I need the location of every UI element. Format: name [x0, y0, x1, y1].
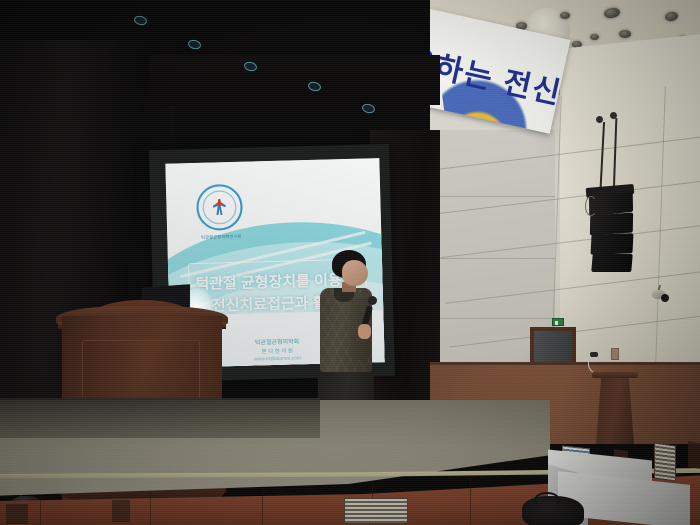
- security-camera-lens-icon: [661, 294, 669, 302]
- exit-sign-icon: [552, 318, 564, 326]
- stage-vent-grille: [654, 442, 676, 481]
- apron-access-panel: [112, 500, 130, 522]
- apron-access-panel: [6, 504, 28, 524]
- side-pedestal-top: [592, 372, 638, 378]
- wall-outlet-icon: [611, 348, 619, 360]
- stage-floor-shadow: [0, 398, 320, 438]
- presenter-hand: [358, 324, 371, 339]
- apron-access-panel: [688, 441, 700, 469]
- ceiling-downlight: [619, 30, 631, 38]
- wainscot-trim: [430, 362, 700, 365]
- apron-seam: [40, 496, 41, 525]
- line-array-module: [590, 233, 633, 255]
- stage-curtain-valance: [150, 55, 440, 105]
- speaker-ceiling-mount: [610, 112, 617, 119]
- floor-bag-strap: [534, 492, 560, 508]
- side-pedestal-table: [596, 376, 634, 444]
- line-array-module: [591, 254, 633, 272]
- ceiling-downlight: [560, 12, 570, 19]
- auditorium-photo: 2015년 1월 18일 12시~18시 CHA의과학대학교 통합의학대학원, …: [0, 0, 700, 525]
- handheld-microphone-head-icon: [368, 296, 377, 305]
- speaker-ceiling-mount: [596, 116, 603, 123]
- presenter-face: [342, 260, 368, 286]
- ceiling-downlight: [590, 34, 599, 40]
- line-array-module: [590, 212, 633, 235]
- apron-seam: [150, 492, 151, 525]
- stage-vent-grille: [344, 498, 408, 524]
- apron-seam: [262, 488, 263, 525]
- speaker-safety-wire: [585, 196, 597, 216]
- apron-seam: [470, 476, 471, 524]
